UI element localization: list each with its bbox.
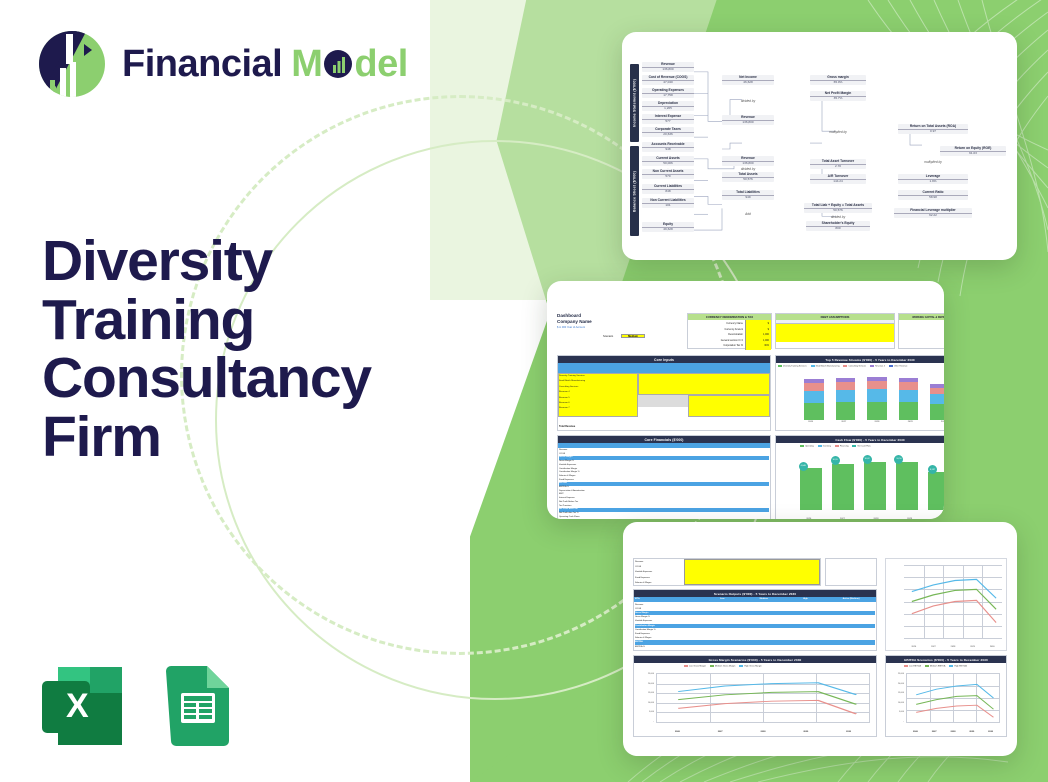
- headline-line-4: Firm: [42, 408, 462, 467]
- legend-gross-margin: Low Gross Margin Medium Gross Margin Hig…: [684, 665, 762, 668]
- dupont-node-corporate-taxes: Corporate Taxes20,636: [642, 127, 694, 137]
- dupont-node-equity: Equity49,628: [642, 222, 694, 232]
- dupont-node-total-liab-equity: Total Liab + Equity = Total Assets50,576: [804, 203, 872, 213]
- dupont-node-interest-expense: Interest Expense577: [642, 114, 694, 124]
- panel-core-inputs: Core Inputs Diversity Training Services …: [557, 355, 771, 431]
- core-input-rows: Diversity Training Services Small Batch …: [559, 374, 637, 412]
- scenario-body: Revenue COGS Variable Expenses Fixed Exp…: [633, 540, 1007, 738]
- dupont-node-shareholders-equity: Shareholder's Equity800: [806, 221, 870, 231]
- dupont-node-total-assets: Total Assets50,576: [722, 172, 774, 182]
- panel-core-financials: Core Financials ($'000) Revenue COGS Gro…: [557, 435, 771, 519]
- stacked-bars: [794, 374, 944, 420]
- dupont-node-current-ratio: Current Ratio58.98: [898, 190, 968, 200]
- dupont-node-revenue-3: Revenue136,800: [722, 156, 774, 166]
- dupont-node-net-income: Net Income46,628: [722, 75, 774, 85]
- chart-cash-flow: Cash Flow ($'000) - 5 Years to December …: [775, 435, 944, 519]
- panel-working-capital: WORKING CAPITAL & DEPRECIATION: [898, 313, 944, 349]
- dupont-node-net-profit-margin: Net Profit Margin35.7%: [810, 91, 866, 101]
- dupont-node-current-assets: Current Assets50,006: [642, 156, 694, 166]
- dupont-node-gross-margin: Gross margin65.0%: [810, 75, 866, 85]
- currency-rows: Currency Name Currency Amount Denominati…: [690, 321, 743, 349]
- scenario-selector[interactable]: Medium: [621, 334, 645, 338]
- dupont-node-roa: Return on Total Assets (ROA)0.97: [898, 124, 968, 134]
- brand-wordmark: Financial M del: [122, 43, 408, 86]
- chart-revenue-scenarios: 2026 2027 2028 2029 2030: [885, 558, 1007, 651]
- google-sheets-icon[interactable]: [154, 663, 240, 749]
- dupont-node-revenue: Revenue136,800: [642, 62, 694, 72]
- chart-ebitda-scenarios: EBITDA Scenarios ($'000) - 5 Years to De…: [885, 655, 1007, 737]
- table-scenario-outputs: Scenario Outputs ($'000) - 5 Years to De…: [633, 589, 877, 651]
- headline-line-1: Diversity: [42, 232, 462, 291]
- dupont-node-opex: Operating Expenses17,758: [642, 88, 694, 98]
- brand-logo[interactable]: Financial M del: [36, 28, 408, 100]
- dashboard-heading: Dashboard Company Name $ in 000 Year of …: [557, 313, 592, 330]
- y-axis-labels: 25,00020,00015,00010,0005,000-: [635, 673, 655, 723]
- brand-name-financial: Financial: [122, 43, 282, 86]
- legend-cash-flow: Operating Investing Financing Net Cash F…: [800, 445, 871, 448]
- dupont-node-revenue-2: Revenue136,800: [722, 115, 774, 125]
- x-axis-labels: 2026 2027 2028 2029 2030: [794, 421, 944, 428]
- legend-ebitda: Low EBITDA Medium EBITDA High EBITDA: [904, 665, 967, 668]
- left-content: Financial M del Diversity Training Consu…: [0, 0, 470, 782]
- headline-line-2: Training: [42, 291, 462, 350]
- dupont-node-total-liabilities: Total Liabilities949: [722, 190, 774, 200]
- sensitivity-row-labels: Revenue COGS Variable Expenses Fixed Exp…: [635, 560, 683, 586]
- panel-debt-assumptions: DEBT ASSUMPTIONS: [775, 313, 895, 349]
- dupont-node-accounts-receivable: Accounts Receivable948: [642, 142, 694, 152]
- dupont-tree: Income Statement ($'000) Balance Sheet (…: [630, 60, 1009, 238]
- screenshot-dupont-analysis[interactable]: Income Statement ($'000) Balance Sheet (…: [622, 32, 1017, 260]
- dashboard-body: Dashboard Company Name $ in 000 Year of …: [557, 313, 934, 489]
- brand-name-model-post: del: [354, 43, 407, 86]
- page-title: Diversity Training Consultancy Firm: [42, 232, 462, 467]
- brand-logo-o-icon: [323, 49, 353, 79]
- dupont-node-ar-turnover: A/R Turnover144.24: [810, 174, 866, 184]
- svg-text:X: X: [66, 687, 89, 725]
- table-active-scenario: [825, 558, 877, 586]
- compatible-apps: X: [40, 663, 240, 749]
- legend-revenue-streams: Diversity Training Services Small Batch …: [778, 365, 944, 368]
- scenario-label: Scenario: [603, 335, 613, 338]
- dupont-node-cogs: Cost of Revenue (COGS)47,040: [642, 75, 694, 85]
- microsoft-excel-icon[interactable]: X: [40, 663, 126, 749]
- dupont-node-non-current-liabilities: Non Current Liabilities101: [642, 198, 694, 208]
- core-financial-rows: Revenue COGS Gross Margin Gross Margin %…: [559, 449, 769, 519]
- panel-currency-denomination: CURRENCY DENOMINATION & TAX Currency Nam…: [687, 313, 772, 349]
- screenshot-dashboard[interactable]: Dashboard Company Name $ in 000 Year of …: [547, 281, 944, 519]
- dupont-node-current-liabilities: Current Liabilities848: [642, 184, 694, 194]
- chart-gross-margin-scenarios: Gross Margin Scenarios ($'000) - 5 Years…: [633, 655, 877, 737]
- headline-line-3: Consultancy: [42, 349, 462, 408]
- financial-model-circle-logo-icon: [36, 28, 108, 100]
- table-sensitivity: Revenue COGS Variable Expenses Fixed Exp…: [633, 558, 821, 586]
- dupont-node-non-current-assets: Non Current Assets570: [642, 169, 694, 179]
- scenario-output-rows: Revenue COGS Gross Margin Gross Margin %…: [635, 603, 875, 649]
- dupont-node-financial-leverage-multiplier: Financial Leverage multiplier62.22: [894, 208, 972, 218]
- brand-name-model-pre: M: [291, 43, 322, 86]
- screenshot-scenario-outputs[interactable]: Revenue COGS Variable Expenses Fixed Exp…: [623, 522, 1017, 756]
- dupont-node-depreciation: Depreciation1,265: [642, 101, 694, 111]
- promo-banner: Financial M del Diversity Training Consu…: [0, 0, 1048, 782]
- dupont-node-total-asset-turnover: Total Asset Turnover2.70: [810, 159, 866, 169]
- dupont-node-leverage: Leverage1.9%: [898, 174, 968, 184]
- chart-top-5-revenue-streams: Top 5 Revenue Streams ($'000) - 5 Years …: [775, 355, 944, 431]
- dupont-node-roe: Return on Equity (ROE)61.03: [940, 146, 1006, 156]
